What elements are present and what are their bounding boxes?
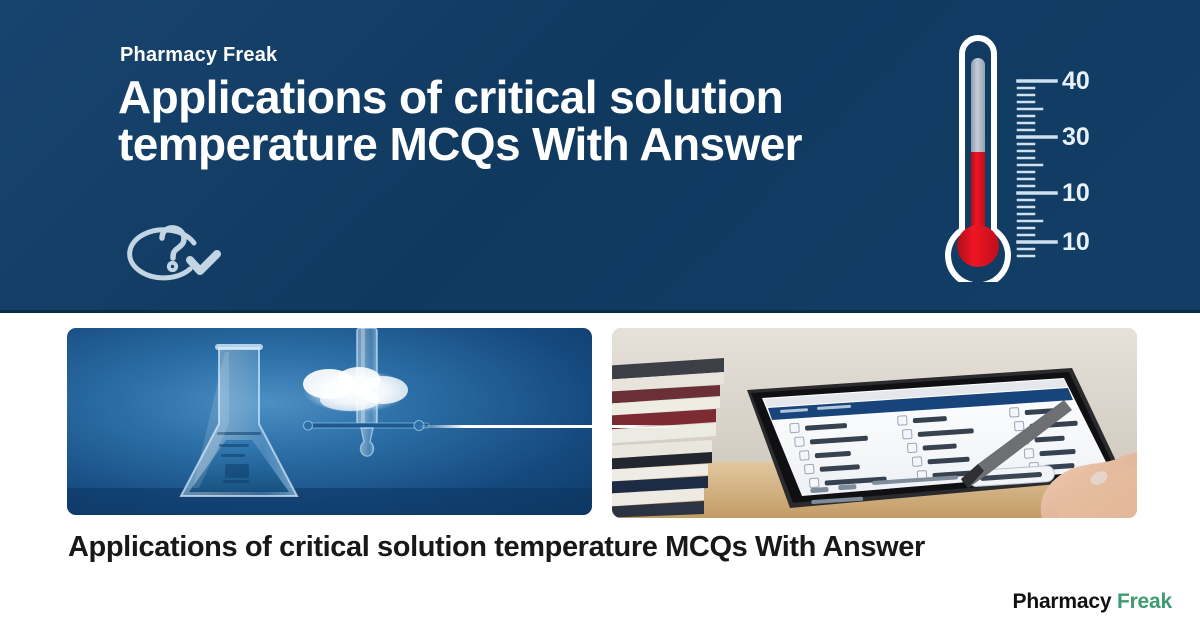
- promo-graphic: Pharmacy Freak Applications of critical …: [0, 0, 1200, 628]
- lab-illustration: [67, 328, 592, 515]
- thermometer-label-2: 10: [1062, 179, 1090, 207]
- caption-text: Applications of critical solution temper…: [68, 531, 968, 565]
- vapour-cloud: [303, 367, 408, 413]
- thermometer-icon: 40 30 10 10: [940, 34, 1120, 282]
- erlenmeyer-flask: [181, 344, 297, 496]
- footer-logo: Pharmacy Freak: [1013, 590, 1172, 614]
- thermometer-label-3: 10: [1062, 228, 1090, 256]
- hero-banner: Pharmacy Freak Applications of critical …: [0, 0, 1200, 313]
- tablet-quiz-photo: [612, 328, 1137, 518]
- white-connector-line: [418, 425, 678, 428]
- footer-logo-word-freak: Freak: [1117, 590, 1172, 613]
- hero-brand-label: Pharmacy Freak: [120, 44, 277, 67]
- tablet-illustration: [612, 328, 1137, 518]
- page-title: Applications of critical solution temper…: [118, 74, 878, 169]
- thermometer-label-1: 30: [1062, 123, 1090, 151]
- thermometer-label-0: 40: [1062, 67, 1090, 95]
- chemistry-lab-photo: [67, 328, 592, 515]
- question-mark-check-icon: [120, 218, 228, 290]
- footer-logo-word-pharmacy: Pharmacy: [1013, 590, 1112, 613]
